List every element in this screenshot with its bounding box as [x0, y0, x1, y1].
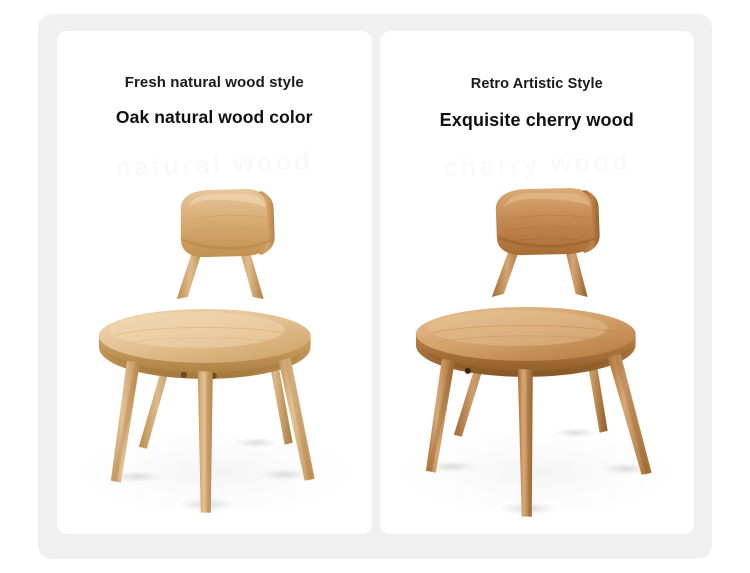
- chair-backrest-right: [495, 188, 599, 255]
- chair-illustration-left: [57, 31, 372, 534]
- screenshot-root: natural wood Fresh natural wood style Oa…: [0, 0, 750, 573]
- chair-image-right: [380, 31, 695, 534]
- product-panel-right[interactable]: cherry wood Retro Artistic Style Exquisi…: [380, 31, 695, 534]
- chair-illustration-right: [380, 31, 695, 534]
- seat-screw-1: [464, 368, 470, 374]
- seat-screw-1: [181, 372, 187, 378]
- product-panel-left[interactable]: natural wood Fresh natural wood style Oa…: [57, 31, 372, 534]
- chair-image-left: [57, 31, 372, 534]
- product-panel-group: natural wood Fresh natural wood style Oa…: [57, 31, 694, 534]
- chair-backrest-left: [181, 189, 275, 257]
